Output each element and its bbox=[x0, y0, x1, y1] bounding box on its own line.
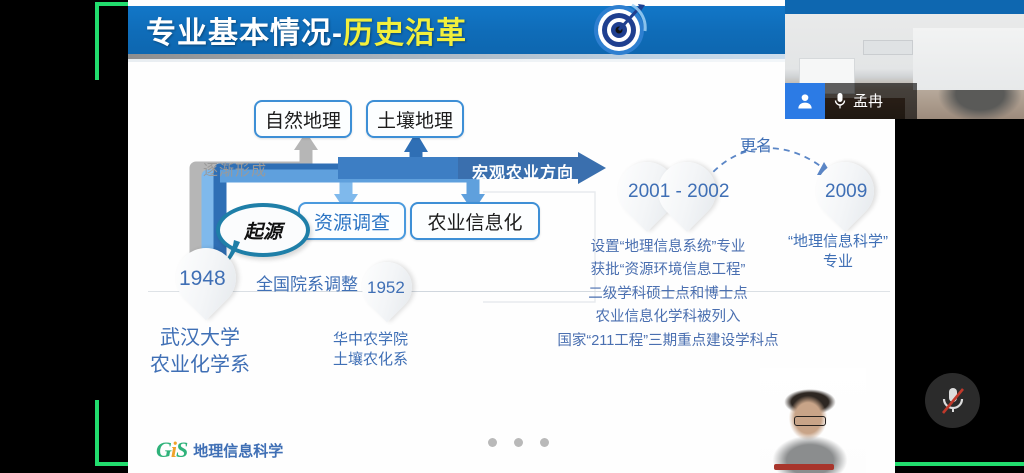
caption-line: 华中农学院 bbox=[333, 330, 408, 350]
page-dot bbox=[540, 438, 549, 447]
node-label: 农业信息化 bbox=[427, 208, 522, 235]
gis-logo-text: 地理信息科学 bbox=[193, 440, 283, 461]
achievements-text-block: 设置“地理信息系统”专业 获批“资源环境信息工程” 二级学科硕士点和博士点 农业… bbox=[508, 236, 828, 353]
slide-page-dots bbox=[488, 438, 549, 447]
timeline-year-1948: 1948 bbox=[179, 267, 226, 291]
video-air-conditioner bbox=[863, 40, 913, 55]
node-box-resource-survey[interactable]: 资源调查 bbox=[298, 202, 406, 240]
caption-line: 武汉大学 bbox=[150, 325, 250, 352]
participant-video-tile-bottom[interactable] bbox=[760, 368, 866, 473]
caption-line: 土壤农化系 bbox=[333, 350, 408, 370]
mute-microphone-button[interactable] bbox=[925, 373, 980, 428]
share-border-top-left-vertical bbox=[95, 2, 99, 80]
achievement-line-3: 二级学科硕士点和博士点 bbox=[508, 283, 828, 306]
node-box-soil-geography[interactable]: 土壤地理 bbox=[366, 100, 464, 138]
microphone-muted-icon bbox=[939, 386, 967, 416]
achievement-line-5: 国家“211工程”三期重点建设学科点 bbox=[508, 330, 828, 353]
node-label: 资源调查 bbox=[314, 208, 390, 235]
origin-label: 起源 bbox=[244, 217, 282, 244]
screen-share-view: 专业基本情况-历史沿革 bbox=[0, 0, 1024, 473]
page-dot bbox=[488, 438, 497, 447]
achievement-line-4: 农业信息化学科被列入 bbox=[508, 306, 828, 329]
flow-label-national-adjustment: 全国院系调整 bbox=[256, 270, 358, 295]
person-icon bbox=[785, 83, 825, 119]
timeline-year-2009: 2009 bbox=[825, 181, 867, 203]
achievement-line-1: 设置“地理信息系统”专业 bbox=[508, 236, 828, 259]
node-box-agricultural-informatization[interactable]: 农业信息化 bbox=[410, 202, 540, 240]
node-box-natural-geography[interactable]: 自然地理 bbox=[254, 100, 352, 138]
gis-logo-mark: GiS bbox=[156, 437, 187, 463]
page-dot bbox=[514, 438, 523, 447]
timeline-year-1952: 1952 bbox=[367, 278, 405, 298]
gis-logo: GiS 地理信息科学 bbox=[156, 437, 283, 463]
timeline-year-2001-2002: 2001 - 2002 bbox=[628, 181, 729, 203]
node-label: 土壤地理 bbox=[377, 106, 453, 133]
microphone-icon bbox=[833, 92, 847, 110]
flow-label-macro-agriculture-direction: 宏观农业方向 bbox=[472, 159, 574, 183]
flow-label-rename: 更名 bbox=[740, 132, 772, 156]
video-person-glasses bbox=[794, 416, 826, 426]
video-desk-edge bbox=[774, 464, 834, 470]
caption-line: 农业化学系 bbox=[150, 352, 250, 379]
participant-video-tile-top[interactable]: 孟冉 bbox=[785, 0, 1024, 119]
node-label: 自然地理 bbox=[265, 106, 341, 133]
participant-name: 孟冉 bbox=[853, 90, 883, 111]
flow-label-gradual-formation: 逐渐形成 bbox=[203, 159, 267, 180]
caption-huazhong-college: 华中农学院 土壤农化系 bbox=[333, 330, 408, 371]
caption-wuhan-university: 武汉大学 农业化学系 bbox=[150, 325, 250, 379]
achievement-line-2: 获批“资源环境信息工程” bbox=[508, 259, 828, 282]
video-background-wall bbox=[913, 28, 1024, 90]
share-border-bottom-left-vertical bbox=[95, 400, 99, 466]
